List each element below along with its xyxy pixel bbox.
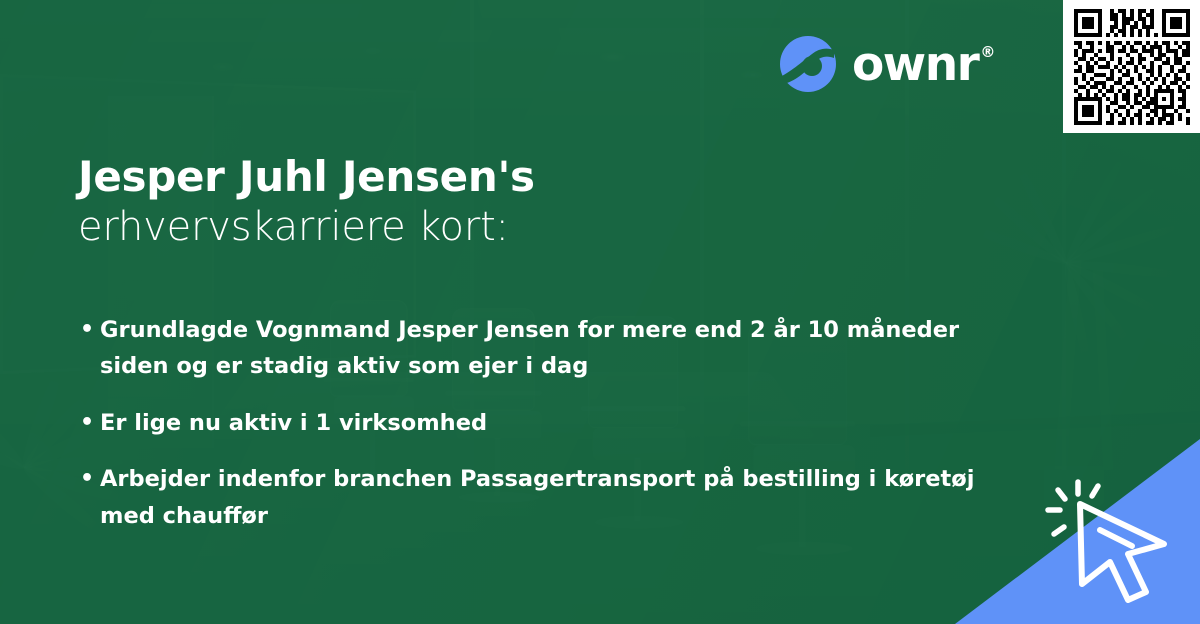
cta-corner[interactable]: [955, 439, 1200, 624]
career-facts-list: • Grundlagde Vognmand Jesper Jensen for …: [80, 312, 980, 534]
ownr-wordmark-text: ownr: [852, 41, 978, 88]
bullet-marker: •: [80, 461, 100, 497]
click-cursor-icon: [1042, 472, 1192, 612]
ownr-wordmark: ownr ®: [852, 41, 994, 88]
list-item-text: Grundlagde Vognmand Jesper Jensen for me…: [100, 312, 980, 385]
registered-trademark-symbol: ®: [980, 45, 994, 60]
page-title-name: Jesper Juhl Jensen's: [78, 152, 535, 202]
list-item: • Er lige nu aktiv i 1 virksomhed: [80, 405, 980, 441]
bullet-marker: •: [80, 405, 100, 441]
list-item: • Grundlagde Vognmand Jesper Jensen for …: [80, 312, 980, 385]
ownr-brand-lockup[interactable]: ownr ®: [778, 34, 994, 94]
qr-code-panel[interactable]: [1063, 0, 1200, 133]
bullet-marker: •: [80, 312, 100, 348]
qr-code-icon[interactable]: [1072, 9, 1192, 125]
business-card-banner: ownr ® Jesper Juhl Jensen's erhvervskarr…: [0, 0, 1200, 624]
list-item-text: Arbejder indenfor branchen Passagertrans…: [100, 461, 980, 534]
list-item: • Arbejder indenfor branchen Passagertra…: [80, 461, 980, 534]
list-item-text: Er lige nu aktiv i 1 virksomhed: [100, 405, 980, 441]
ownr-circle-swirl-icon: [778, 34, 838, 94]
page-title-subtitle: erhvervskarriere kort:: [78, 202, 535, 252]
page-title: Jesper Juhl Jensen's erhvervskarriere ko…: [78, 152, 535, 252]
